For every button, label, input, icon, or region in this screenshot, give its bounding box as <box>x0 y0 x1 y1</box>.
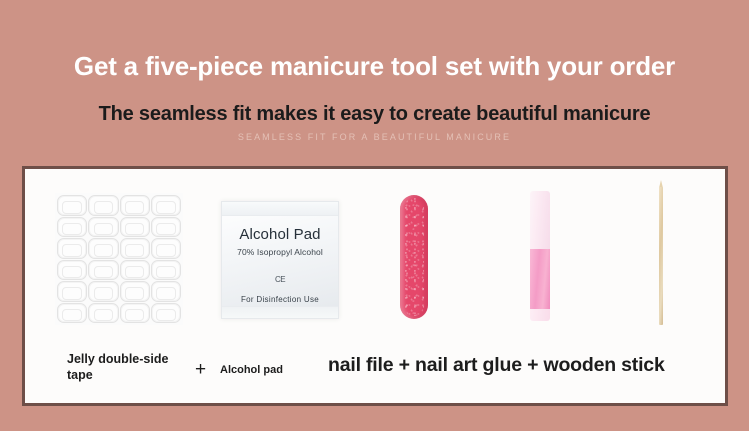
wooden-stick-image <box>656 187 666 325</box>
headline-kicker: SEAMLESS FIT FOR A BEAUTIFUL MANICURE <box>0 131 749 144</box>
tape-tab <box>88 260 118 281</box>
tape-tab <box>120 260 150 281</box>
tape-tab <box>120 281 150 302</box>
tape-tab <box>120 238 150 259</box>
tape-tab <box>57 303 87 324</box>
tape-tab <box>57 195 87 216</box>
tape-tab <box>151 217 181 238</box>
nail-file-image <box>400 195 428 319</box>
sachet-seal-bottom <box>222 306 338 318</box>
glue-base <box>530 309 550 321</box>
alcohol-pad-subtitle: 70% Isopropyl Alcohol <box>222 247 338 257</box>
tape-tab <box>57 281 87 302</box>
tape-tab <box>88 217 118 238</box>
label-jelly-tape: Jelly double-side tape <box>67 351 185 383</box>
tape-tab <box>88 195 118 216</box>
tape-tab <box>151 238 181 259</box>
alcohol-pad-title: Alcohol Pad <box>222 226 338 243</box>
tape-tab <box>57 260 87 281</box>
tape-tab <box>151 281 181 302</box>
tape-tab <box>120 217 150 238</box>
ce-mark: CE <box>222 275 338 284</box>
jelly-tape-image <box>55 193 183 325</box>
headline-secondary: The seamless fit makes it easy to create… <box>0 101 749 127</box>
nail-art-glue-image <box>530 191 550 321</box>
tape-tab <box>151 303 181 324</box>
tape-tab <box>120 303 150 324</box>
glue-body <box>530 249 550 309</box>
tape-tab <box>120 195 150 216</box>
headline-primary: Get a five-piece manicure tool set with … <box>0 50 749 82</box>
tape-tab <box>88 238 118 259</box>
promo-banner: Get a five-piece manicure tool set with … <box>0 0 749 431</box>
sachet-seal-top <box>222 202 338 216</box>
tape-tab <box>57 238 87 259</box>
product-label-row: Jelly double-side tape + Alcohol pad nai… <box>25 335 725 403</box>
tape-tab <box>57 217 87 238</box>
product-image-row: Alcohol Pad 70% Isopropyl Alcohol CE For… <box>25 169 725 335</box>
product-panel: Alcohol Pad 70% Isopropyl Alcohol CE For… <box>22 166 728 406</box>
nail-file-body <box>400 195 428 319</box>
tape-tab <box>88 303 118 324</box>
tape-tab <box>151 260 181 281</box>
label-remaining-tools: nail file + nail art glue + wooden stick <box>328 353 718 377</box>
tape-tab <box>151 195 181 216</box>
tape-tab <box>88 281 118 302</box>
nail-file-grit-texture <box>404 198 424 316</box>
label-alcohol-pad: Alcohol pad <box>220 363 338 377</box>
glue-cap <box>530 191 550 249</box>
wooden-stick-body <box>659 187 663 325</box>
plus-separator-icon: + <box>195 359 206 381</box>
alcohol-pad-image: Alcohol Pad 70% Isopropyl Alcohol CE For… <box>221 201 339 319</box>
alcohol-pad-usage: For Disinfection Use <box>222 295 338 304</box>
alcohol-pad-sachet: Alcohol Pad 70% Isopropyl Alcohol CE For… <box>221 201 339 319</box>
